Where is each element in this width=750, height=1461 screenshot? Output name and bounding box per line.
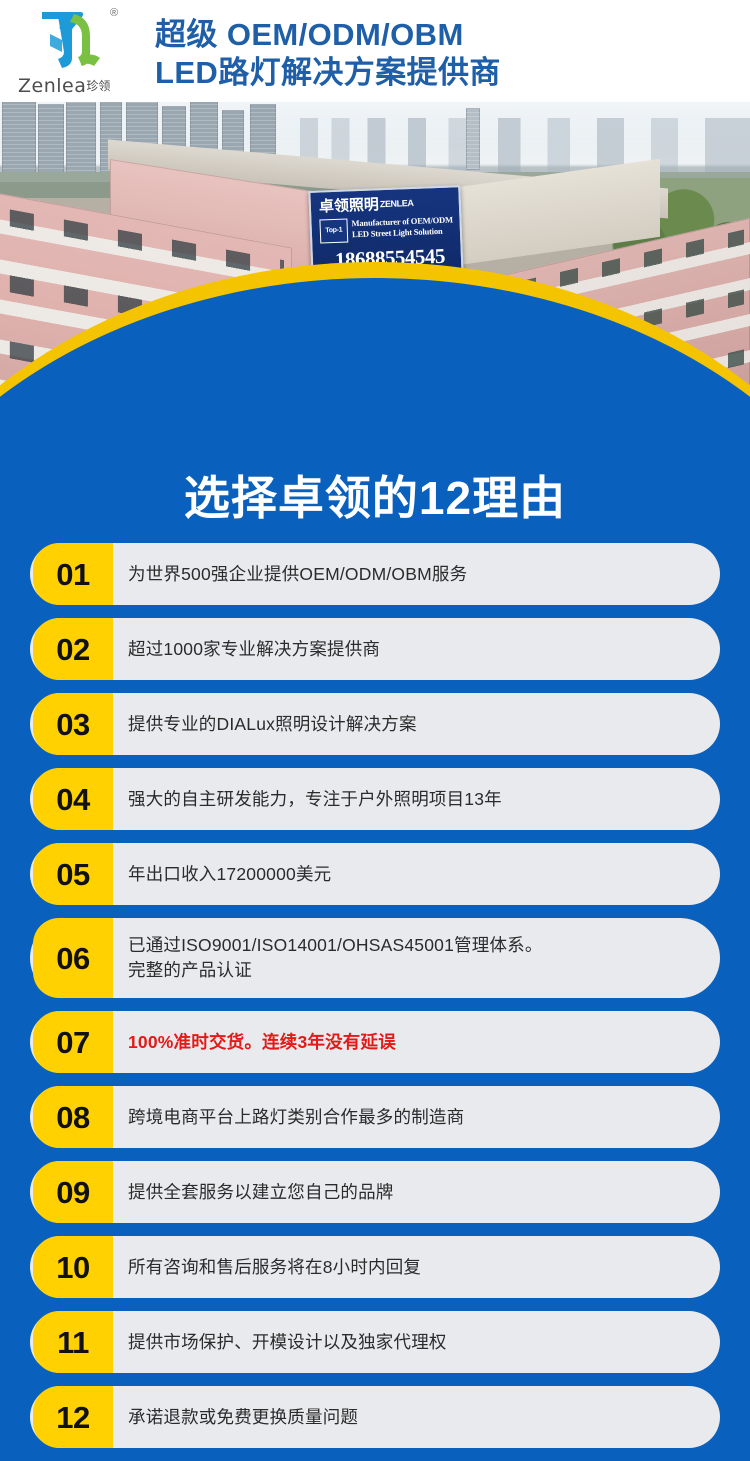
header-title-line2: LED路灯解决方案提供商 [155, 54, 715, 92]
registered-trademark-icon: ® [110, 8, 118, 19]
reason-text-line1: 所有咨询和售后服务将在8小时内回复 [128, 1255, 710, 1280]
brand-logo: ® Zenlea珍领 [14, 4, 138, 100]
reason-number-badge: 09 [33, 1161, 113, 1223]
signboard-brand-cn: 卓领照明 [319, 196, 380, 215]
reason-number: 05 [56, 859, 89, 890]
reasons-list: 01为世界500强企业提供OEM/ODM/OBM服务02超过1000家专业解决方… [0, 543, 750, 1461]
reason-number-badge: 06 [33, 918, 113, 998]
signboard-subtitle: Manufacturer of OEM/ODM LED Street Light… [351, 214, 460, 240]
reason-number: 07 [56, 1027, 89, 1058]
reason-text-line1: 提供全套服务以建立您自己的品牌 [128, 1180, 710, 1205]
brand-wordmark: Zenlea珍领 [18, 75, 138, 97]
signboard-brand-en: ZENLEA [379, 198, 415, 209]
reason-text-line1: 提供市场保护、开模设计以及独家代理权 [128, 1330, 710, 1355]
reason-text: 已通过ISO9001/ISO14001/OHSAS45001管理体系。完整的产品… [128, 918, 710, 998]
reason-text: 所有咨询和售后服务将在8小时内回复 [128, 1236, 710, 1298]
reason-row[interactable]: 02超过1000家专业解决方案提供商 [0, 618, 750, 680]
reason-text: 提供市场保护、开模设计以及独家代理权 [128, 1311, 710, 1373]
brand-wordmark-en: Zenlea [18, 75, 86, 97]
reason-text-line1: 强大的自主研发能力，专注于户外照明项目13年 [128, 787, 710, 812]
signboard-brand: 卓领照明ZENLEA [319, 193, 456, 217]
reason-number-badge: 11 [33, 1311, 113, 1373]
reason-text: 超过1000家专业解决方案提供商 [128, 618, 710, 680]
reason-text: 年出口收入17200000美元 [128, 843, 710, 905]
header-title: 超级 OEM/ODM/OBM LED路灯解决方案提供商 [155, 16, 715, 92]
reason-number: 09 [56, 1177, 89, 1208]
reason-text: 100%准时交货。连续3年没有延误 [128, 1011, 710, 1073]
reason-text-line1: 提供专业的DIALux照明设计解决方案 [128, 712, 710, 737]
reason-text-line1: 为世界500强企业提供OEM/ODM/OBM服务 [128, 562, 710, 587]
zl-ribbon-logo-icon [28, 6, 114, 74]
reason-row[interactable]: 07100%准时交货。连续3年没有延误 [0, 1011, 750, 1073]
reason-number-badge: 03 [33, 693, 113, 755]
reason-number-badge: 04 [33, 768, 113, 830]
reason-row[interactable]: 08跨境电商平台上路灯类别合作最多的制造商 [0, 1086, 750, 1148]
reason-number: 01 [56, 559, 89, 590]
reason-number: 11 [57, 1327, 89, 1358]
reason-text-line1: 跨境电商平台上路灯类别合作最多的制造商 [128, 1105, 710, 1130]
page-header: ® Zenlea珍领 超级 OEM/ODM/OBM LED路灯解决方案提供商 [0, 0, 750, 102]
reason-number-badge: 05 [33, 843, 113, 905]
skyline-tower [38, 104, 64, 180]
skyline-tower [2, 100, 36, 180]
reason-number: 12 [56, 1402, 89, 1433]
section-title: 选择卓领的12理由 [0, 471, 750, 525]
signboard-top1-badge: Top-1 [319, 218, 348, 243]
reason-row[interactable]: 04强大的自主研发能力，专注于户外照明项目13年 [0, 768, 750, 830]
reason-number: 03 [56, 709, 89, 740]
reason-number-badge: 02 [33, 618, 113, 680]
reason-text-line1: 100%准时交货。连续3年没有延误 [128, 1030, 710, 1055]
brand-wordmark-cn: 珍领 [86, 79, 110, 93]
reason-row[interactable]: 09提供全套服务以建立您自己的品牌 [0, 1161, 750, 1223]
reason-number-badge: 10 [33, 1236, 113, 1298]
reason-text-line1: 年出口收入17200000美元 [128, 862, 710, 887]
reason-row[interactable]: 10所有咨询和售后服务将在8小时内回复 [0, 1236, 750, 1298]
reason-text: 提供全套服务以建立您自己的品牌 [128, 1161, 710, 1223]
reason-row[interactable]: 03提供专业的DIALux照明设计解决方案 [0, 693, 750, 755]
reason-number: 10 [56, 1252, 89, 1283]
reason-text-line1: 已通过ISO9001/ISO14001/OHSAS45001管理体系。 [128, 933, 710, 958]
reason-number: 02 [56, 634, 89, 665]
reason-number: 06 [56, 943, 89, 974]
reason-text-line2: 完整的产品认证 [128, 958, 710, 983]
reason-row[interactable]: 01为世界500强企业提供OEM/ODM/OBM服务 [0, 543, 750, 605]
skyline-tower [66, 100, 96, 180]
reason-number-badge: 08 [33, 1086, 113, 1148]
reason-text-line1: 超过1000家专业解决方案提供商 [128, 637, 710, 662]
reason-text-line1: 承诺退款或免费更换质量问题 [128, 1405, 710, 1430]
reason-number: 04 [56, 784, 89, 815]
reason-row[interactable]: 11提供市场保护、开模设计以及独家代理权 [0, 1311, 750, 1373]
skyline-tower [466, 108, 480, 170]
reasons-section: 选择卓领的12理由 01为世界500强企业提供OEM/ODM/OBM服务02超过… [0, 455, 750, 1402]
reason-text: 为世界500强企业提供OEM/ODM/OBM服务 [128, 543, 710, 605]
reason-text: 承诺退款或免费更换质量问题 [128, 1386, 710, 1448]
reason-row[interactable]: 06已通过ISO9001/ISO14001/OHSAS45001管理体系。完整的… [0, 918, 750, 998]
reason-number-badge: 07 [33, 1011, 113, 1073]
reason-number-badge: 01 [33, 543, 113, 605]
header-title-line1: 超级 OEM/ODM/OBM [155, 16, 715, 54]
reason-text: 提供专业的DIALux照明设计解决方案 [128, 693, 710, 755]
reason-text: 跨境电商平台上路灯类别合作最多的制造商 [128, 1086, 710, 1148]
reason-number-badge: 12 [33, 1386, 113, 1448]
reason-number: 08 [56, 1102, 89, 1133]
reason-row[interactable]: 05年出口收入17200000美元 [0, 843, 750, 905]
reason-row[interactable]: 12承诺退款或免费更换质量问题 [0, 1386, 750, 1448]
reason-text: 强大的自主研发能力，专注于户外照明项目13年 [128, 768, 710, 830]
